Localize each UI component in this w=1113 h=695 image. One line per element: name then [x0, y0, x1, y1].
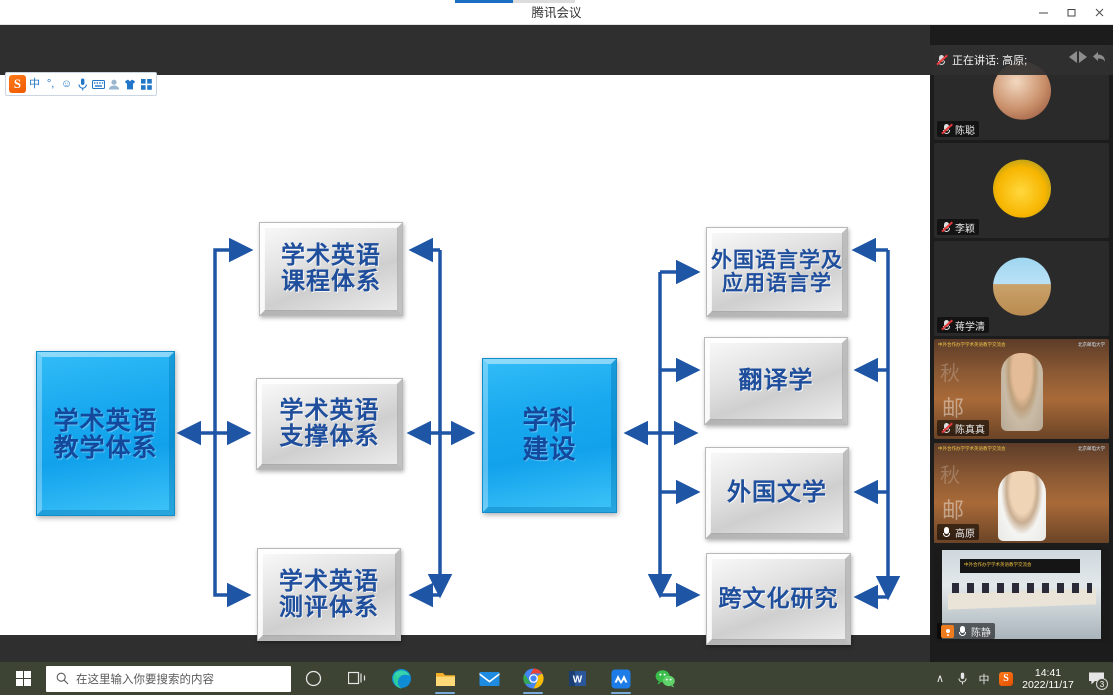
node-academic-english-support-system[interactable]: 学术英语 支撑体系 — [256, 378, 403, 470]
participant-name-badge: 高原 — [937, 524, 979, 540]
minimize-button[interactable] — [1029, 0, 1057, 25]
shared-screen-stage: 学术英语 教学体系 学术英语 课程体系 学术英语 支撑体系 学术英语 测评体系 … — [0, 25, 930, 670]
video-watermark-2: 邮 — [942, 493, 964, 525]
mic-on-icon — [957, 625, 968, 637]
start-button[interactable] — [0, 662, 46, 695]
sogou-logo-glyph: S — [999, 672, 1013, 686]
mic-muted-icon — [936, 54, 947, 67]
search-icon — [56, 672, 69, 685]
room-banner-text: 中外合作办学学术英语教学交流会 — [964, 562, 1032, 568]
microphone-tray-icon[interactable] — [951, 662, 973, 695]
chinese-mode-icon[interactable]: 中 — [28, 75, 42, 93]
windows-logo-icon — [16, 671, 31, 686]
participant-name-badge: 陈聪 — [937, 121, 979, 137]
clock[interactable]: 14:41 2022/11/17 — [1017, 662, 1079, 695]
node-line-2: 建设 — [522, 436, 576, 464]
participant-tile-active-speaker[interactable]: 中外合作办学学术英语教学交流会 北京邮电大学 秋 邮 高原 — [934, 443, 1109, 543]
participant-tile[interactable]: 中外合作办学学术英语教学交流会 北京邮电大学 秋 邮 陈真真 — [934, 339, 1109, 439]
node-line-2: 课程体系 — [281, 269, 381, 295]
participant-name-badge: 陈静 — [937, 623, 995, 639]
task-view-icon[interactable] — [335, 662, 379, 695]
clock-time: 14:41 — [1035, 667, 1061, 679]
person-silhouette — [1001, 353, 1043, 431]
participant-name: 高原 — [955, 525, 975, 540]
participant-rail[interactable]: 陈聪 李颖 蒋学清 中外合作办学学术英语教学交流会 北京邮电大学 秋 邮 陈真真 — [930, 25, 1113, 670]
show-hidden-icons-icon[interactable]: ∧ — [929, 662, 951, 695]
file-explorer-icon[interactable] — [423, 662, 467, 695]
node-line-1: 翻译学 — [739, 368, 814, 394]
participant-name: 陈静 — [971, 624, 991, 639]
user-icon[interactable] — [107, 75, 121, 93]
voice-input-icon[interactable] — [75, 75, 89, 93]
punctuation-icon[interactable]: °, — [44, 75, 58, 93]
mail-icon[interactable] — [467, 662, 511, 695]
maximize-button[interactable] — [1057, 0, 1085, 25]
node-line-1: 学科 — [522, 407, 576, 435]
sogou-ime-toolbar[interactable]: S 中 °, ☺ — [5, 72, 157, 96]
video-watermark-1: 秋 — [940, 459, 960, 488]
node-line-1: 学术英语 — [279, 569, 379, 595]
node-line-2: 应用语言学 — [722, 272, 832, 295]
participant-name-badge: 陈真真 — [937, 420, 989, 436]
tencent-meeting-icon[interactable] — [599, 662, 643, 695]
close-button[interactable] — [1085, 0, 1113, 25]
participant-tile[interactable]: 蒋学清 — [934, 241, 1109, 336]
active-speaker-text: 正在讲话: 高原; — [952, 52, 1027, 68]
participant-name: 蒋学清 — [955, 318, 985, 333]
attendees — [952, 583, 1092, 593]
shared-slide-surface: 学术英语 教学体系 学术英语 课程体系 学术英语 支撑体系 学术英语 测评体系 … — [0, 75, 930, 635]
wechat-icon[interactable] — [643, 662, 687, 695]
video-watermark-2: 邮 — [942, 391, 964, 423]
node-foreign-linguistics-applied-linguistics[interactable]: 外国语言学及 应用语言学 — [706, 227, 848, 317]
participant-name-badge: 蒋学清 — [937, 317, 989, 333]
app-title: 腾讯会议 — [0, 0, 1113, 25]
mic-muted-icon — [941, 319, 952, 331]
node-line-1: 外国语言学及 — [711, 249, 843, 272]
node-line-1: 学术英语 — [281, 243, 381, 269]
person-silhouette — [998, 471, 1046, 541]
node-line-1: 外国文学 — [727, 480, 827, 506]
edge-icon[interactable] — [379, 662, 423, 695]
sogou-tray-icon[interactable]: S — [995, 662, 1017, 695]
participant-tile[interactable]: 中外合作办学学术英语教学交流会 陈静 — [934, 547, 1109, 642]
participant-name: 陈聪 — [955, 122, 975, 137]
emoji-icon[interactable]: ☺ — [60, 75, 74, 93]
participant-name-badge: 李颖 — [937, 219, 979, 235]
node-discipline-construction[interactable]: 学科 建设 — [482, 358, 617, 513]
node-cross-cultural-studies[interactable]: 跨文化研究 — [706, 553, 851, 645]
node-line-2: 测评体系 — [279, 595, 379, 621]
mic-muted-icon — [941, 221, 952, 233]
active-underline — [435, 692, 455, 694]
window-title-bar: 腾讯会议 — [0, 0, 1113, 25]
video-banner-text: 中外合作办学学术英语教学交流会 — [938, 446, 1006, 452]
video-banner-text: 中外合作办学学术英语教学交流会 — [938, 342, 1006, 348]
node-line-2: 教学体系 — [53, 434, 157, 461]
node-academic-english-course-system[interactable]: 学术英语 课程体系 — [259, 222, 403, 316]
diagram-canvas: 学术英语 教学体系 学术英语 课程体系 学术英语 支撑体系 学术英语 测评体系 … — [0, 75, 930, 635]
sogou-logo-icon[interactable]: S — [9, 75, 26, 93]
soft-keyboard-icon[interactable] — [91, 75, 105, 93]
windows-taskbar[interactable]: 在这里输入你要搜索的内容 W ∧ 中 S 14:41 — [0, 662, 1113, 695]
active-underline — [611, 692, 631, 694]
avatar — [993, 159, 1051, 217]
node-line-1: 学术英语 — [280, 398, 380, 424]
collapse-rail-icon[interactable] — [1067, 49, 1089, 65]
active-underline — [523, 692, 543, 694]
search-placeholder-text: 在这里输入你要搜索的内容 — [76, 671, 214, 687]
chrome-icon[interactable] — [511, 662, 555, 695]
video-university-text: 北京邮电大学 — [1078, 446, 1105, 452]
node-line-1: 学术英语 — [53, 407, 157, 434]
participant-name: 李颖 — [955, 220, 975, 235]
avatar — [993, 257, 1051, 315]
node-academic-english-assessment-system[interactable]: 学术英语 测评体系 — [257, 548, 401, 641]
notification-badge: 3 — [1096, 678, 1108, 690]
back-arrow-icon[interactable] — [1091, 49, 1107, 65]
toolbox-icon[interactable] — [139, 75, 153, 93]
node-academic-english-teaching-system[interactable]: 学术英语 教学体系 — [36, 351, 175, 516]
participant-tile[interactable]: 李颖 — [934, 143, 1109, 238]
video-university-text: 北京邮电大学 — [1078, 342, 1105, 348]
mic-muted-icon — [941, 422, 952, 434]
node-line-1: 跨文化研究 — [719, 587, 839, 612]
node-foreign-literature[interactable]: 外国文学 — [705, 447, 849, 539]
node-translation-studies[interactable]: 翻译学 — [704, 337, 848, 425]
word-icon[interactable]: W — [555, 662, 599, 695]
clock-date: 2022/11/17 — [1022, 679, 1074, 691]
notification-center-button[interactable]: 3 — [1079, 662, 1113, 695]
mic-muted-icon — [941, 123, 952, 135]
node-line-2: 支撑体系 — [280, 424, 380, 450]
video-watermark-1: 秋 — [940, 357, 960, 386]
svg-text:W: W — [572, 675, 582, 686]
mic-on-icon — [941, 526, 952, 538]
participant-name: 陈真真 — [955, 421, 985, 436]
skin-icon[interactable] — [123, 75, 137, 93]
system-tray[interactable]: ∧ 中 S 14:41 2022/11/17 3 — [929, 662, 1113, 695]
cortana-icon[interactable] — [291, 662, 335, 695]
ime-chinese-icon[interactable]: 中 — [973, 662, 995, 695]
search-input[interactable]: 在这里输入你要搜索的内容 — [46, 666, 291, 692]
active-speaker-banner: 正在讲话: 高原; — [930, 45, 1113, 75]
host-badge-icon — [941, 625, 954, 638]
